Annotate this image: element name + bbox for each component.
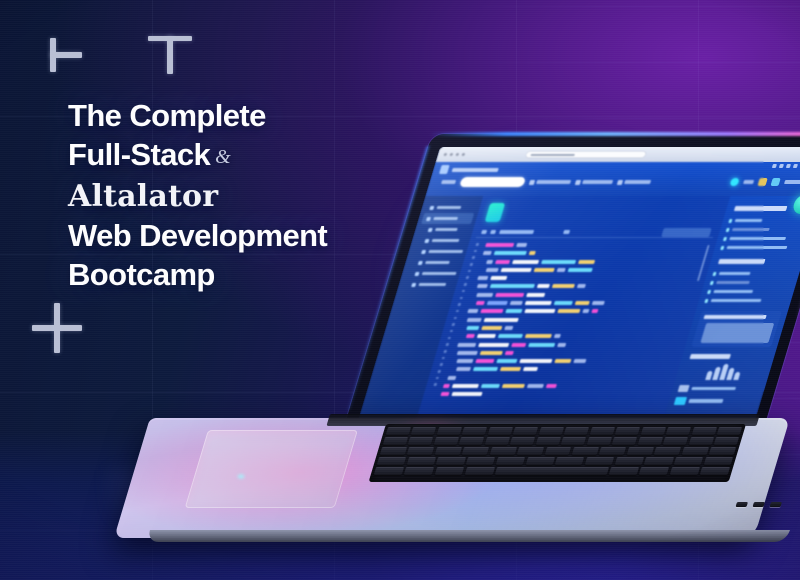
code-line-number: [447, 337, 451, 340]
address-bar[interactable]: [525, 151, 647, 158]
keyboard-key[interactable]: [666, 427, 691, 435]
code-token-comment: [487, 301, 508, 305]
toolbar-menu-label[interactable]: [441, 180, 456, 184]
sidebar-item-plugins[interactable]: [401, 279, 454, 290]
code-token-variable: [512, 260, 539, 264]
poster-canvas: The Complete Full-Stack& Altalator Web D…: [0, 0, 800, 580]
keyboard-key[interactable]: [663, 437, 688, 445]
code-token-string: [557, 309, 580, 313]
code-token-keyword: [495, 293, 524, 297]
code-token-function: [490, 284, 535, 288]
rail-list-item[interactable]: [712, 269, 795, 278]
keyboard-key[interactable]: [408, 437, 433, 445]
document-toolbar[interactable]: [476, 227, 716, 238]
keyboard-key[interactable]: [465, 467, 495, 475]
code-line-number: [451, 323, 455, 326]
sidebar-item-label: [418, 283, 446, 286]
document-tile-icon: [485, 203, 506, 222]
rail-section2-title: [718, 259, 766, 264]
code-line: [440, 392, 664, 396]
toolbar-bold-icon[interactable]: [481, 230, 487, 234]
code-token-string: [552, 284, 575, 288]
code-line-number: [462, 290, 466, 293]
keyboard-key[interactable]: [555, 457, 584, 465]
code-token-punctuation: [516, 243, 527, 247]
promo-thumbnail: [700, 323, 774, 343]
code-token-string: [578, 260, 595, 264]
code-line: [443, 384, 667, 388]
code-token-punctuation: [447, 376, 456, 380]
code-token-punctuation: [477, 284, 488, 288]
document-header: [479, 200, 724, 227]
app-brand[interactable]: [432, 162, 800, 174]
keyboard-row[interactable]: [377, 457, 733, 465]
code-token-keyword: [495, 260, 510, 264]
keyboard-key[interactable]: [599, 447, 626, 455]
app-toolbar: [428, 174, 800, 187]
page-title: The Complete Full-Stack& Altalator Web D…: [68, 96, 398, 294]
rail-list-item[interactable]: [709, 278, 792, 287]
keyboard-key[interactable]: [536, 437, 561, 445]
code-token-function: [568, 268, 593, 272]
code-token-variable: [501, 268, 532, 272]
code-line: [445, 376, 669, 380]
code-token-function: [541, 260, 576, 264]
code-token-string: [534, 268, 555, 272]
code-line-number: [433, 383, 437, 386]
keyboard-key[interactable]: [714, 437, 739, 445]
keyboard-key[interactable]: [612, 437, 637, 445]
back-icon[interactable]: [443, 153, 447, 156]
keyboard-key[interactable]: [383, 437, 408, 445]
code-token-variable: [526, 293, 545, 297]
code-token-keyword: [443, 384, 450, 388]
plus-mark-icon: [32, 303, 82, 353]
code-line-number: [455, 310, 459, 313]
code-token-punctuation: [592, 301, 605, 305]
keyboard-key[interactable]: [374, 467, 404, 475]
keyboard-key[interactable]: [435, 467, 465, 475]
code-token-punctuation: [467, 309, 478, 313]
code-token-string: [529, 251, 536, 255]
sidebar-item-label: [432, 239, 460, 242]
keyboard-key[interactable]: [572, 447, 599, 455]
lid-rim-light-top: [429, 132, 800, 136]
code-token-keyword: [440, 392, 449, 396]
code-token-variable: [523, 367, 538, 371]
code-token-punctuation: [557, 343, 566, 347]
sidebar-item-files[interactable]: [421, 213, 474, 224]
code-line: [450, 359, 674, 363]
rail-item-label: [716, 281, 750, 285]
code-token-punctuation: [527, 384, 544, 388]
code-line-number: [445, 343, 449, 346]
sidebar-item-icon: [418, 261, 423, 265]
keyboard-key[interactable]: [644, 457, 673, 465]
keyboard-key[interactable]: [459, 437, 484, 445]
code-token-punctuation: [573, 359, 586, 363]
keyboard-key[interactable]: [490, 447, 517, 455]
toolbar-style-label[interactable]: [499, 230, 534, 234]
code-token-function: [528, 343, 555, 347]
code-token-function: [466, 326, 479, 330]
sidebar-item-build-tools[interactable]: [411, 246, 464, 257]
sidebar-item-label: [433, 217, 457, 220]
keyboard-key[interactable]: [614, 457, 643, 465]
sidebar-item-icon: [424, 239, 429, 243]
rail-item-bullet: [710, 281, 714, 285]
code-token-function: [498, 334, 523, 338]
keyboard-key[interactable]: [615, 427, 640, 435]
keyboard-key[interactable]: [627, 447, 654, 455]
keyboard-row[interactable]: [383, 437, 739, 445]
app-logo-icon: [439, 165, 450, 174]
code-token-keyword: [475, 359, 494, 363]
keyboard-key[interactable]: [436, 457, 465, 465]
rail-list-item[interactable]: [722, 234, 800, 243]
code-token-punctuation: [483, 251, 492, 255]
keyboard-key[interactable]: [609, 467, 639, 475]
home-icon[interactable]: [461, 153, 465, 156]
rail-item-label: [732, 228, 770, 232]
rail-item-label: [729, 237, 786, 241]
promo-title: [704, 315, 767, 319]
rail-item-bullet: [726, 228, 730, 232]
code-token-variable: [452, 384, 479, 388]
keyboard-key[interactable]: [411, 427, 436, 435]
keyboard-key[interactable]: [386, 427, 411, 435]
sidebar-item-label: [425, 261, 449, 264]
code-token-string: [554, 359, 571, 363]
laptop-base: [150, 418, 800, 568]
hdmi-port: [770, 502, 783, 507]
sidebar-item-label: [437, 206, 461, 209]
code-line: [448, 367, 672, 371]
keyboard-key[interactable]: [700, 467, 730, 475]
document-title-lines: [505, 203, 720, 222]
code-token-variable: [490, 276, 507, 280]
code-line: [485, 243, 709, 247]
community-illustration: [681, 364, 766, 380]
code-token-function: [481, 384, 500, 388]
sidebar-item-preview[interactable]: [414, 235, 467, 246]
keyboard-key[interactable]: [681, 447, 708, 455]
keyboard-key[interactable]: [717, 427, 742, 435]
keyboard-key[interactable]: [510, 437, 535, 445]
search-input[interactable]: [459, 177, 526, 187]
code-line-number: [464, 283, 468, 286]
code-token-punctuation: [476, 293, 493, 297]
usb-c-port-2: [753, 502, 766, 507]
code-line-number: [439, 363, 443, 366]
keyboard-key[interactable]: [404, 467, 434, 475]
sidebar-item-label: [428, 250, 463, 253]
code-line: [465, 309, 689, 313]
code-token-punctuation: [510, 301, 523, 305]
rail-item-bullet: [707, 290, 711, 294]
toolbar-item-manage[interactable]: [529, 180, 572, 185]
forward-icon[interactable]: [449, 153, 453, 156]
keyboard-key[interactable]: [488, 427, 513, 435]
sidebar-item-icon: [415, 272, 420, 276]
code-token-function: [496, 359, 517, 363]
code-line: [460, 326, 684, 330]
keyboard-key[interactable]: [435, 447, 462, 455]
keyboard-row[interactable]: [386, 427, 742, 435]
usb-c-port-1: [736, 502, 749, 507]
code-lines: [440, 243, 709, 396]
rail-item-label: [726, 246, 787, 250]
rail-list-item[interactable]: [720, 243, 800, 252]
sidebar-item-tools[interactable]: [424, 202, 477, 213]
keyboard-key[interactable]: [639, 467, 669, 475]
keyboard-key[interactable]: [525, 457, 554, 465]
code-token-keyword: [546, 384, 557, 388]
code-token-function: [505, 309, 522, 313]
rail-item-bullet: [728, 219, 732, 223]
code-token-string: [525, 334, 552, 338]
sidebar-item-label: [435, 228, 457, 231]
highlight-icon[interactable]: [757, 178, 767, 186]
toolbar-item-insert[interactable]: [575, 180, 614, 185]
headline-line-4: Web Development: [68, 216, 398, 255]
rail-item-bullet: [720, 246, 724, 250]
keyboard-key[interactable]: [407, 447, 434, 455]
rail-item-label: [713, 290, 753, 294]
keyboard-key[interactable]: [674, 457, 703, 465]
keyboard-key[interactable]: [590, 427, 615, 435]
code-token-string: [500, 367, 521, 371]
rail-list-item[interactable]: [725, 225, 800, 234]
code-line-number: [437, 370, 441, 373]
rail-item-label: [719, 272, 751, 276]
sidebar-item-code[interactable]: [418, 224, 471, 235]
code-token-keyword: [511, 343, 526, 347]
keyboard-key[interactable]: [407, 457, 436, 465]
rail-item-bullet: [723, 237, 727, 241]
code-token-function: [473, 367, 498, 371]
code-line: [463, 318, 687, 322]
code-line: [473, 284, 697, 288]
code-token-variable: [525, 301, 552, 305]
keyboard-key[interactable]: [585, 457, 614, 465]
app-header: [425, 162, 800, 196]
code-line-number: [468, 270, 472, 273]
footer-note: [691, 387, 736, 391]
rail-list-item[interactable]: [706, 287, 789, 296]
app-header-actions: [729, 178, 800, 186]
sidebar-item-version-log[interactable]: [405, 268, 458, 279]
keyboard-key[interactable]: [513, 427, 538, 435]
code-token-punctuation: [477, 276, 488, 280]
keyboard-key[interactable]: [517, 447, 544, 455]
keyboard-key[interactable]: [587, 437, 612, 445]
keyboard-key[interactable]: [466, 457, 495, 465]
sidebar-item-icon: [428, 228, 433, 232]
keyboard-key[interactable]: [704, 457, 733, 465]
code-token-punctuation: [456, 359, 473, 363]
code-line-number: [466, 276, 470, 279]
keyboard-key[interactable]: [641, 427, 666, 435]
keyboard-key[interactable]: [691, 427, 716, 435]
keyboard-row[interactable]: [380, 447, 736, 455]
rail-section1-title: [734, 206, 788, 211]
code-token-punctuation: [557, 268, 566, 272]
code-line: [453, 351, 677, 355]
code-token-punctuation: [457, 343, 476, 347]
keyboard-key[interactable]: [377, 457, 406, 465]
sidebar-item-icon: [429, 206, 434, 210]
code-token-variable: [537, 284, 550, 288]
keyboard-key[interactable]: [495, 467, 609, 475]
rail-item-bullet: [713, 272, 717, 276]
deck-front-edge: [146, 530, 790, 542]
code-line: [480, 260, 704, 264]
keyboard-key[interactable]: [654, 447, 681, 455]
rail-item-label: [711, 299, 762, 303]
rail-section2-list: [704, 269, 795, 305]
headline-line-3: Altalator: [68, 177, 398, 216]
keyboard-key[interactable]: [564, 427, 589, 435]
code-token-variable: [451, 392, 482, 396]
sidebar-item-icon: [411, 283, 416, 287]
code-token-punctuation: [486, 260, 493, 264]
code-token-string: [480, 351, 503, 355]
code-line-number: [457, 303, 461, 306]
code-token-keyword: [505, 351, 514, 355]
ampersand-glyph: &: [215, 146, 230, 168]
footer-cta-button[interactable]: [674, 397, 687, 405]
address-bar-text: [531, 154, 576, 156]
rail-item-label: [735, 219, 763, 223]
code-line-number: [443, 350, 447, 353]
sleep-indicator-light-icon: [236, 473, 246, 480]
keyboard-key[interactable]: [496, 457, 525, 465]
sidebar-item-icon: [426, 217, 431, 221]
code-token-variable: [484, 318, 519, 322]
corner-mark-top-icon: [148, 36, 192, 74]
keyboard-row[interactable]: [374, 467, 730, 475]
code-token-string: [575, 301, 590, 305]
keyboard-key[interactable]: [462, 427, 487, 435]
headline-line-2: Full-Stack&: [68, 135, 398, 177]
keyboard-key[interactable]: [670, 467, 700, 475]
code-line-number: [460, 297, 464, 300]
code-token-punctuation: [554, 334, 561, 338]
toolbar-italic-icon[interactable]: [490, 230, 496, 234]
code-token-variable: [524, 309, 555, 313]
keyboard-key[interactable]: [561, 437, 586, 445]
code-line: [475, 276, 699, 280]
share-icon[interactable]: [770, 178, 780, 186]
headline-line-1: The Complete: [68, 96, 398, 135]
code-token-punctuation: [486, 268, 499, 272]
code-line-number: [470, 263, 474, 266]
code-line-number: [476, 243, 480, 246]
sidebar-item-icon: [421, 250, 426, 254]
keyboard-key[interactable]: [437, 427, 462, 435]
code-line: [455, 343, 679, 347]
sidebar-item-label: [422, 272, 457, 275]
footer-row: [678, 385, 760, 392]
keyboard-key[interactable]: [544, 447, 571, 455]
code-line: [478, 268, 702, 272]
code-line: [470, 293, 694, 297]
keyboard-key[interactable]: [638, 437, 663, 445]
code-token-keyword: [485, 243, 514, 247]
code-line-number: [435, 377, 439, 380]
corner-mark-left-icon: [50, 38, 82, 72]
code-token-variable: [478, 343, 509, 347]
code-line-number: [472, 256, 476, 259]
code-token-punctuation: [456, 367, 471, 371]
footer-cta-row[interactable]: [674, 397, 756, 405]
code-token-function: [554, 301, 573, 305]
keyboard-key[interactable]: [380, 447, 407, 455]
code-token-string: [481, 326, 502, 330]
keyboard-key[interactable]: [709, 447, 736, 455]
toolbar-align-icon[interactable]: [563, 230, 570, 234]
code-token-function: [494, 251, 527, 255]
keyboard-key[interactable]: [539, 427, 564, 435]
reload-icon[interactable]: [455, 153, 459, 156]
code-token-punctuation: [457, 351, 478, 355]
keyboard[interactable]: [369, 424, 746, 482]
code-token-punctuation: [504, 326, 513, 330]
rail-list-item[interactable]: [728, 216, 800, 225]
trackpad[interactable]: [185, 430, 358, 508]
rail-item-bullet: [704, 299, 708, 303]
code-token-punctuation: [467, 318, 482, 322]
headline-line-5: Bootcamp: [68, 255, 398, 294]
window-controls[interactable]: [772, 164, 800, 168]
keyboard-key[interactable]: [688, 437, 713, 445]
user-avatar[interactable]: [791, 194, 800, 214]
ports: [736, 502, 783, 507]
code-token-keyword: [476, 301, 485, 305]
code-line-number: [474, 250, 478, 253]
dimensions-chip[interactable]: [661, 228, 712, 237]
toolbar-item-comments[interactable]: [617, 180, 652, 185]
code-token-punctuation: [582, 309, 589, 313]
code-line: [483, 251, 707, 255]
keyboard-key[interactable]: [462, 447, 489, 455]
code-editor[interactable]: [426, 241, 711, 403]
app-brand-label: [452, 168, 499, 172]
code-token-variable: [477, 334, 496, 338]
cloud-sync-icon[interactable]: [729, 178, 739, 186]
code-token-keyword: [591, 309, 598, 313]
promo-card[interactable]: [691, 311, 782, 347]
keyboard-key[interactable]: [485, 437, 510, 445]
code-line-number: [441, 357, 445, 360]
rail-list-item[interactable]: [704, 296, 787, 305]
code-token-string: [502, 384, 525, 388]
code-line: [458, 334, 682, 338]
code-line-number: [453, 317, 457, 320]
code-line: [468, 301, 692, 305]
footer-cta-label: [688, 399, 723, 403]
code-token-punctuation: [577, 284, 586, 288]
code-token-keyword: [466, 334, 475, 338]
keyboard-key[interactable]: [434, 437, 459, 445]
sidebar-item-share[interactable]: [408, 257, 461, 268]
footer-title: [690, 354, 732, 359]
code-line-number: [449, 330, 453, 333]
code-token-keyword: [480, 309, 503, 313]
browser-chrome[interactable]: [436, 147, 800, 162]
account-label[interactable]: [784, 180, 800, 184]
